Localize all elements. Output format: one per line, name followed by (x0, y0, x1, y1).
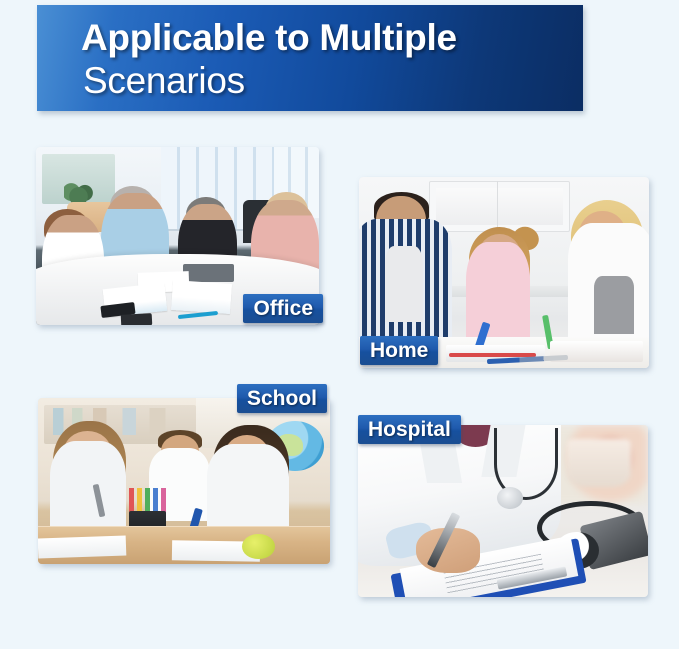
school-notebook-1 (38, 536, 126, 559)
home-kitchen-cabinet (429, 181, 570, 233)
scenario-label-office: Office (243, 294, 323, 323)
scenario-tile-home: Home (359, 177, 649, 368)
school-apple (242, 534, 274, 559)
office-laptop (183, 264, 234, 282)
hospital-vase (567, 439, 631, 487)
hospital-photo (358, 425, 648, 597)
home-cabinet-divider (497, 181, 498, 231)
school-photo (38, 398, 330, 564)
scenario-tile-school: School (38, 398, 330, 564)
home-mother-top (594, 276, 635, 333)
scenario-label-school: School (237, 384, 327, 413)
hospital-scene-art (358, 425, 648, 597)
school-scene-art (38, 398, 330, 564)
scenario-tile-hospital: Hospital (358, 425, 648, 597)
scenario-label-hospital: Hospital (358, 415, 461, 444)
office-document-2 (171, 280, 232, 314)
home-father-tshirt (385, 246, 423, 322)
scenario-label-home: Home (360, 336, 438, 365)
banner-title-line-2: Scenarios (81, 59, 583, 102)
office-smartphone-2 (121, 314, 153, 325)
header-banner: Applicable to Multiple Scenarios (37, 5, 583, 111)
home-girl-body (466, 242, 530, 353)
header-banner-text: Applicable to Multiple Scenarios (37, 5, 583, 111)
scenario-tile-office: Office (36, 147, 319, 325)
banner-title-line-1: Applicable to Multiple (81, 16, 583, 59)
